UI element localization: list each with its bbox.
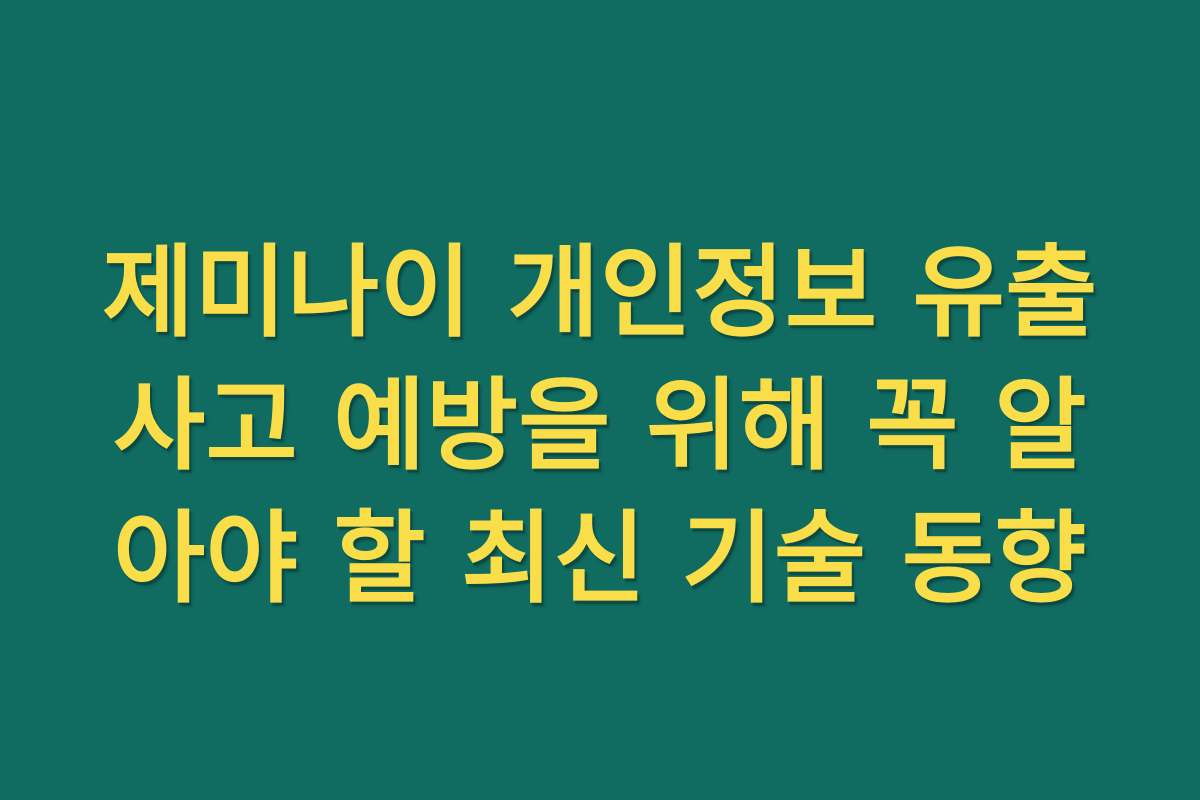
headline-block: 제미나이 개인정보 유출 사고 예방을 위해 꼭 알 아야 할 최신 기술 동향 (0, 226, 1200, 625)
headline-line-3: 아야 할 최신 기술 동향 (0, 492, 1200, 625)
headline-line-2: 사고 예방을 위해 꼭 알 (0, 359, 1200, 492)
thumbnail-canvas: 제미나이 개인정보 유출 사고 예방을 위해 꼭 알 아야 할 최신 기술 동향 (0, 0, 1200, 800)
headline-line-1: 제미나이 개인정보 유출 (0, 226, 1200, 359)
